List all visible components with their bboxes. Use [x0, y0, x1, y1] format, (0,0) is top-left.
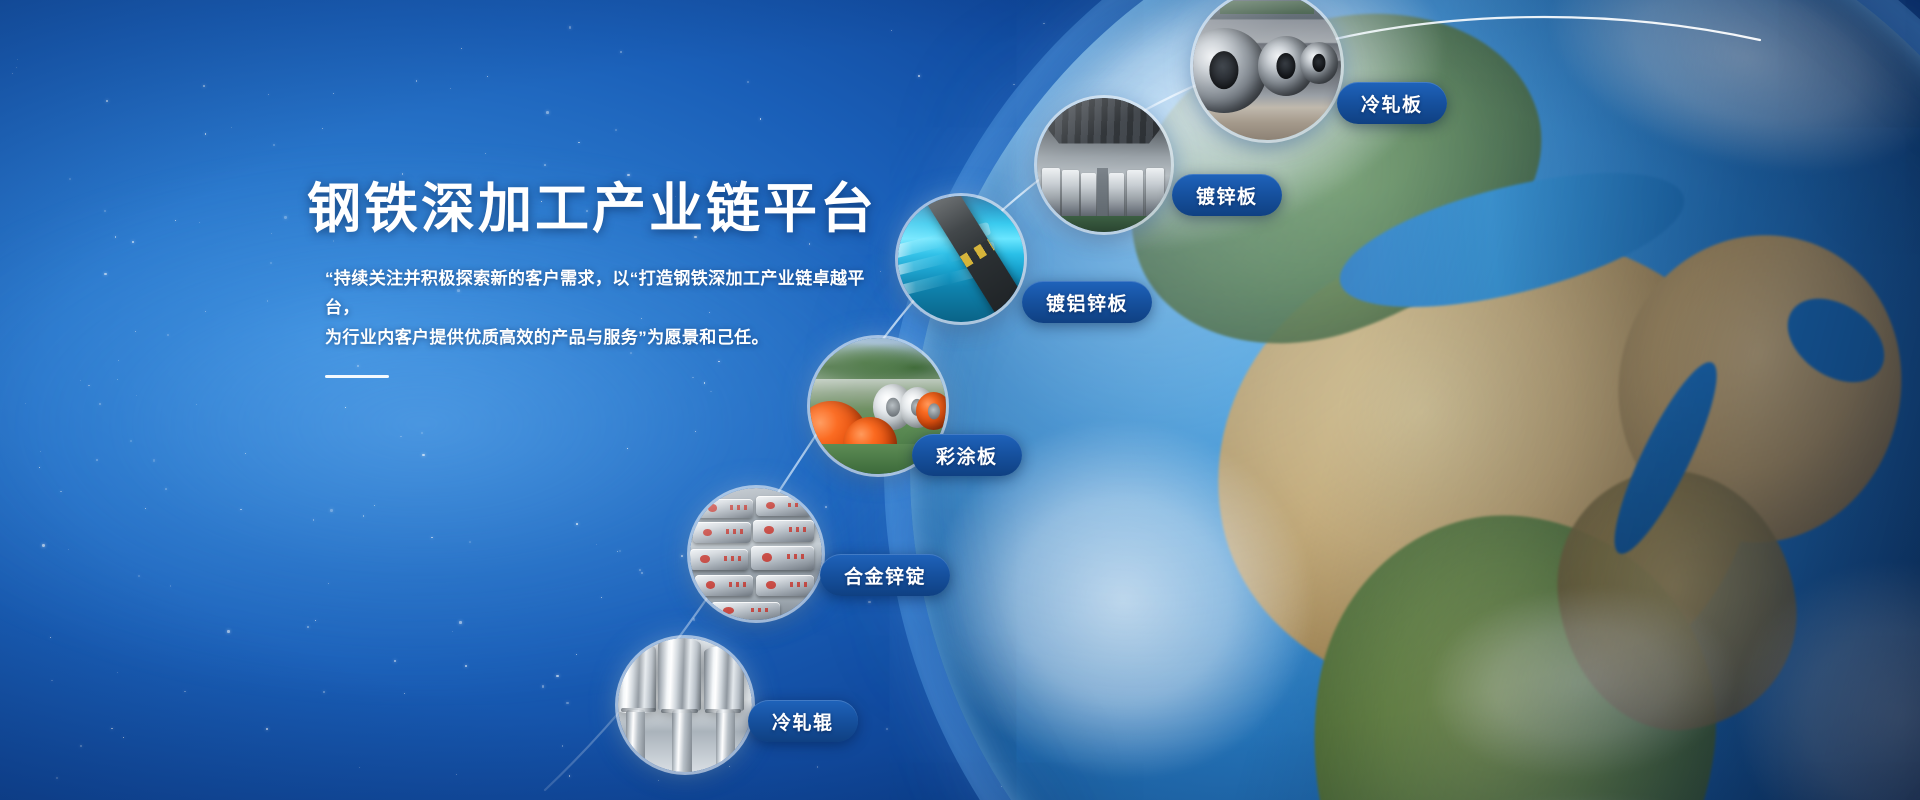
- title-underline-rule: [325, 375, 389, 378]
- galvanized-warehouse-photo[interactable]: [1037, 98, 1171, 232]
- product-label-color-coated-sheet[interactable]: 彩涂板: [912, 434, 1022, 476]
- steel-coils-photo[interactable]: [1193, 0, 1341, 140]
- background-vignette: [0, 0, 1920, 800]
- product-label-aluzinc-sheet[interactable]: 镀铝锌板: [1022, 281, 1152, 323]
- page-title: 钢铁深加工产业链平台: [307, 178, 927, 242]
- hero-subtitle-line-1: “持续关注并积极探索新的客户需求，以“打造钢铁深加工产业链卓越平台，: [325, 269, 865, 318]
- aluzinc-coils-photo[interactable]: [898, 196, 1024, 322]
- zinc-ingots-photo[interactable]: [690, 488, 822, 620]
- product-label-cold-rolled-sheet[interactable]: 冷轧板: [1337, 82, 1447, 124]
- hero-banner: 钢铁深加工产业链平台 “持续关注并积极探索新的客户需求，以“打造钢铁深加工产业链…: [0, 0, 1920, 800]
- hero-subtitle-line-2: 为行业内客户提供优质高效的产品与服务”为愿景和己任。: [325, 328, 769, 347]
- product-label-cold-rolling-roll[interactable]: 冷轧辊: [748, 700, 858, 742]
- product-label-galvanized-sheet[interactable]: 镀锌板: [1172, 174, 1282, 216]
- product-label-zinc-alloy-ingot[interactable]: 合金锌锭: [820, 554, 950, 596]
- rolling-rolls-photo[interactable]: [618, 638, 752, 772]
